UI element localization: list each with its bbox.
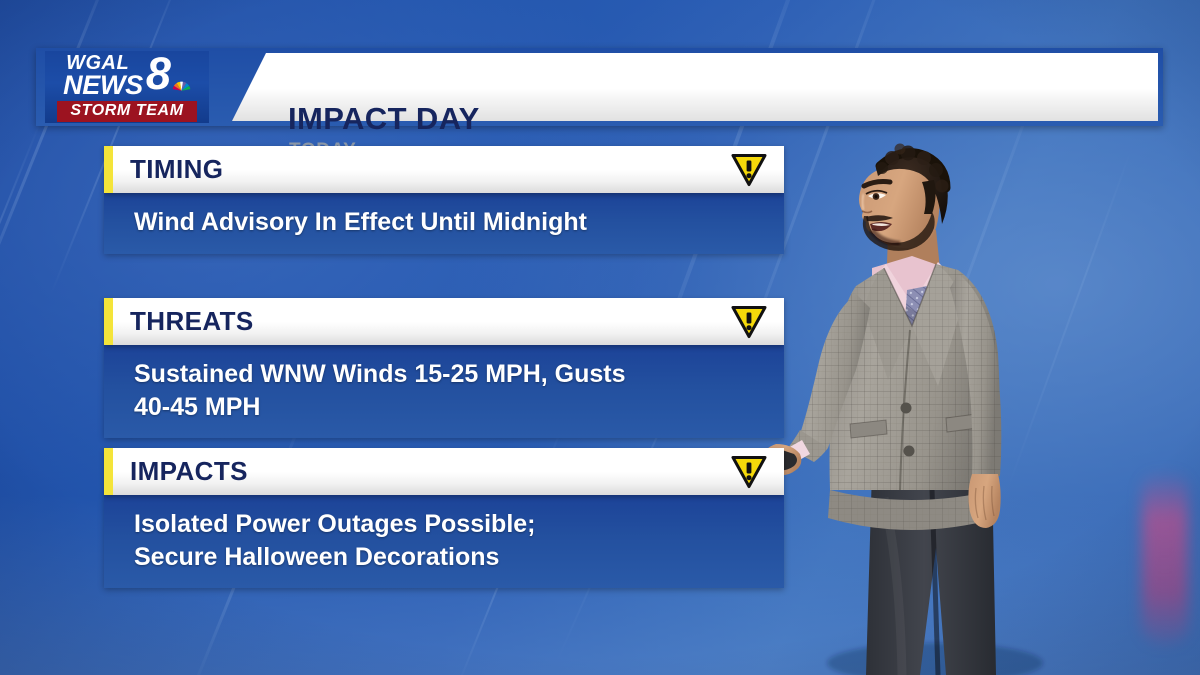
- accent-bar: [104, 298, 113, 345]
- background-light-streak: [1142, 470, 1188, 645]
- section-body-timing: Wind Advisory In Effect Until Midnight: [104, 193, 784, 254]
- section-title: TIMING: [130, 154, 223, 185]
- warning-triangle-icon: [731, 455, 767, 488]
- section-line: Isolated Power Outages Possible;: [134, 508, 784, 541]
- nbc-peacock-icon: [172, 76, 191, 95]
- section-line: Secure Halloween Decorations: [134, 541, 784, 574]
- section-body-impacts: Isolated Power Outages Possible; Secure …: [104, 495, 784, 588]
- logo-channel-number: 8: [146, 55, 171, 93]
- section-title: THREATS: [130, 306, 254, 337]
- accent-bar: [104, 146, 113, 193]
- section-title: IMPACTS: [130, 456, 248, 487]
- section-threats: THREATS Sustained WNW Winds 15-25 MPH, G…: [104, 298, 784, 438]
- section-line: 40-45 MPH: [134, 391, 784, 424]
- section-header-threats: THREATS: [104, 298, 784, 345]
- section-line: Sustained WNW Winds 15-25 MPH, Gusts: [134, 358, 784, 391]
- section-impacts: IMPACTS Isolated Power Outages Possible;…: [104, 448, 784, 588]
- section-line: Wind Advisory In Effect Until Midnight: [134, 206, 784, 239]
- accent-bar: [104, 448, 113, 495]
- warning-triangle-icon: [731, 153, 767, 186]
- station-logo: WGAL NEWS 8 STORM TEAM: [45, 51, 209, 123]
- warning-triangle-icon: [731, 305, 767, 338]
- section-body-threats: Sustained WNW Winds 15-25 MPH, Gusts 40-…: [104, 345, 784, 438]
- meteorologist: [760, 118, 1090, 675]
- section-header-timing: TIMING: [104, 146, 784, 193]
- header-bar: WGAL NEWS 8 STORM TEAM IMPACT DAY TODAY: [36, 48, 1163, 126]
- section-timing: TIMING Wind Advisory In Effect Until Mid…: [104, 146, 784, 254]
- page-title: IMPACT DAY: [288, 103, 480, 134]
- logo-storm-team: STORM TEAM: [57, 101, 196, 122]
- section-header-impacts: IMPACTS: [104, 448, 784, 495]
- logo-news-word: NEWS: [63, 73, 143, 99]
